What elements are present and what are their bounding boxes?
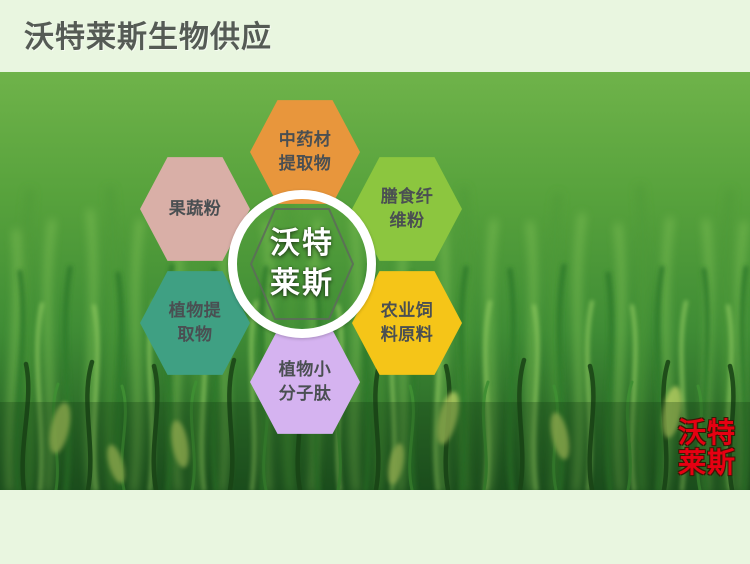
hexagon-label-line2: 维粉 [390, 211, 425, 231]
hexagon-label-line2: 提取物 [279, 154, 332, 174]
hexagon-label-line1: 植物小 [279, 360, 332, 380]
hexagon-label: 果蔬粉 [156, 197, 234, 221]
hexagon-label: 中药材 提取物 [266, 128, 344, 176]
slide-page: 沃特莱斯生物供应 [0, 0, 750, 564]
hexagon-label: 农业饲 料原料 [368, 299, 446, 347]
page-title: 沃特莱斯生物供应 [24, 21, 272, 55]
hexagon-label-line2: 分子肽 [279, 384, 332, 404]
center-label-line1: 沃特 [270, 224, 334, 264]
background-photo: 中药材 提取物 膳食纤 维粉 农业饲 料原料 植物小 分子肽 [0, 72, 750, 490]
hexagon-label-line1: 中药材 [279, 130, 332, 150]
logo-line2: 莱斯 [678, 448, 736, 478]
hexagon-label: 膳食纤 维粉 [368, 185, 446, 233]
brand-watermark-logo: 沃特 莱斯 [678, 418, 736, 478]
hexagon-label-line2: 取物 [178, 325, 213, 345]
page-header: 沃特莱斯生物供应 [0, 0, 750, 72]
hexagon-label-line1: 农业饲 [381, 301, 434, 321]
hexagon-diagram: 中药材 提取物 膳食纤 维粉 农业饲 料原料 植物小 分子肽 [0, 72, 750, 490]
hexagon-label-line2: 料原料 [381, 325, 434, 345]
logo-line1: 沃特 [678, 418, 736, 448]
hexagon-label: 植物提 取物 [156, 299, 234, 347]
hexagon-label-line1: 植物提 [169, 301, 222, 321]
hexagon-label-line1: 果蔬粉 [169, 199, 222, 219]
page-footer [0, 490, 750, 564]
hexagon-label: 植物小 分子肽 [266, 358, 344, 406]
center-label-line2: 莱斯 [270, 264, 334, 304]
hexagon-plant-small-molecule-peptide[interactable]: 植物小 分子肽 [250, 328, 360, 436]
center-brand-label: 沃特 莱斯 [236, 212, 368, 316]
hexagon-label-line1: 膳食纤 [381, 187, 434, 207]
